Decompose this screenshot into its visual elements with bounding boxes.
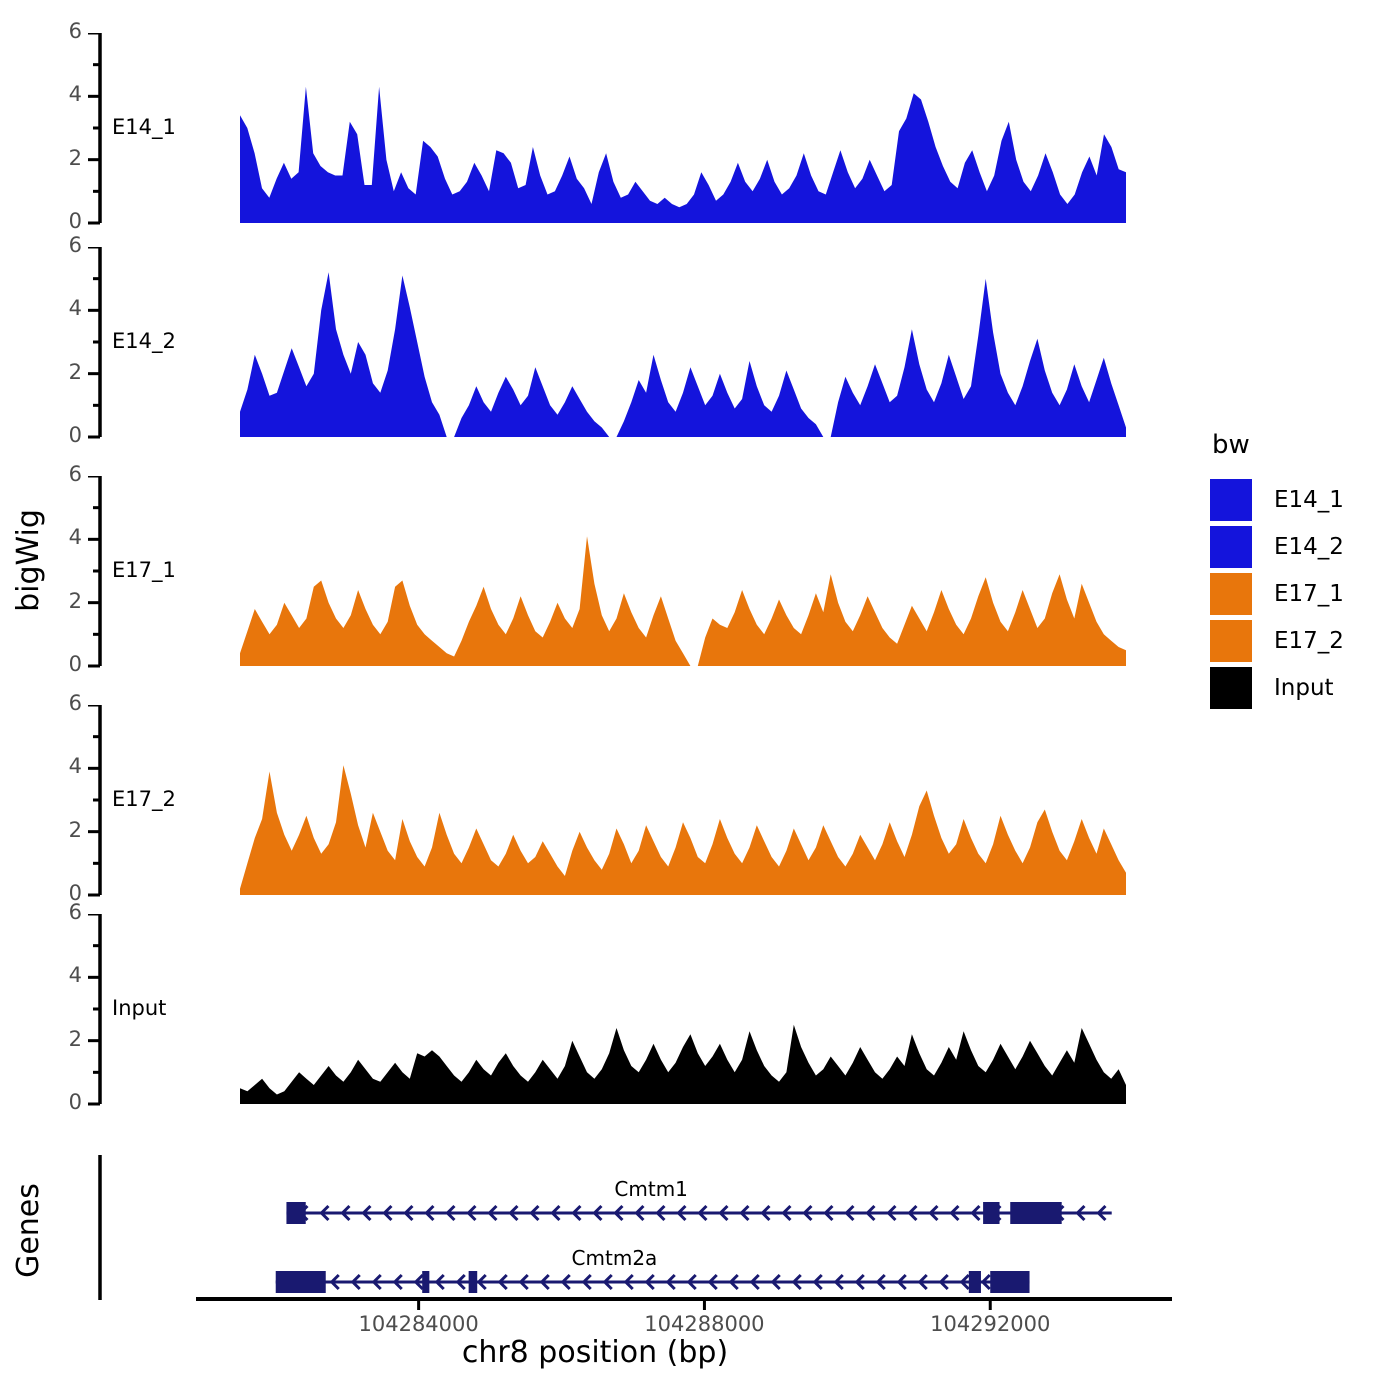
legend-label-Input: Input — [1274, 675, 1334, 701]
legend: bw E14_1E14_2E17_1E17_2Input — [1210, 430, 1390, 711]
legend-swatch-E14_2 — [1210, 526, 1252, 568]
legend-label-E14_1: E14_1 — [1274, 487, 1344, 513]
y-tick-label: 2 — [48, 1027, 82, 1051]
track-label-E17_2: E17_2 — [112, 787, 176, 811]
legend-item-E17_2[interactable]: E17_2 — [1210, 617, 1390, 664]
track-panel-E17_1 — [0, 476, 1190, 672]
legend-item-E14_1[interactable]: E14_1 — [1210, 476, 1390, 523]
legend-swatch-E14_1 — [1210, 479, 1252, 521]
y-tick-label: 2 — [48, 360, 82, 384]
track-label-Input: Input — [112, 996, 166, 1020]
y-tick-label: 0 — [48, 423, 82, 447]
track-label-E14_2: E14_2 — [112, 329, 176, 353]
track-label-E14_1: E14_1 — [112, 115, 176, 139]
genome-browser-figure: bigWig Genes chr8 position (bp) 6420E14_… — [0, 0, 1400, 1400]
track-panel-E14_2 — [0, 247, 1190, 443]
y-tick-label: 4 — [48, 963, 82, 987]
legend-item-E14_2[interactable]: E14_2 — [1210, 523, 1390, 570]
track-label-E17_1: E17_1 — [112, 558, 176, 582]
y-tick-label: 6 — [48, 900, 82, 924]
y-tick-label: 2 — [48, 818, 82, 842]
legend-label-E17_2: E17_2 — [1274, 628, 1344, 654]
y-tick-label: 0 — [48, 1090, 82, 1114]
y-tick-label: 4 — [48, 82, 82, 106]
y-tick-label: 4 — [48, 525, 82, 549]
legend-label-E17_1: E17_1 — [1274, 581, 1344, 607]
x-tick-label: 104284000 — [329, 1312, 509, 1336]
x-axis-title: chr8 position (bp) — [0, 1335, 1190, 1370]
y-tick-label: 2 — [48, 146, 82, 170]
y-tick-label: 6 — [48, 691, 82, 715]
y-tick-label: 4 — [48, 296, 82, 320]
track-panel-Input — [0, 914, 1190, 1110]
legend-item-E17_1[interactable]: E17_1 — [1210, 570, 1390, 617]
track-panel-E17_2 — [0, 705, 1190, 901]
y-tick-label: 2 — [48, 589, 82, 613]
y-tick-label: 4 — [48, 754, 82, 778]
y-tick-label: 6 — [48, 462, 82, 486]
legend-swatch-Input — [1210, 667, 1252, 709]
gene-label-Cmtm2a: Cmtm2a — [572, 1246, 658, 1270]
y-tick-label: 0 — [48, 209, 82, 233]
gene-track-panel — [0, 1155, 1190, 1300]
y-tick-label: 6 — [48, 233, 82, 257]
legend-label-E14_2: E14_2 — [1274, 534, 1344, 560]
x-tick-label: 104288000 — [614, 1312, 794, 1336]
legend-item-Input[interactable]: Input — [1210, 664, 1390, 711]
x-tick-label: 104292000 — [900, 1312, 1080, 1336]
gene-label-Cmtm1: Cmtm1 — [614, 1177, 688, 1201]
legend-swatch-E17_1 — [1210, 573, 1252, 615]
legend-title: bw — [1212, 430, 1390, 460]
y-tick-label: 0 — [48, 652, 82, 676]
track-panel-E14_1 — [0, 33, 1190, 229]
y-tick-label: 6 — [48, 19, 82, 43]
legend-swatch-E17_2 — [1210, 620, 1252, 662]
legend-items: E14_1E14_2E17_1E17_2Input — [1210, 476, 1390, 711]
